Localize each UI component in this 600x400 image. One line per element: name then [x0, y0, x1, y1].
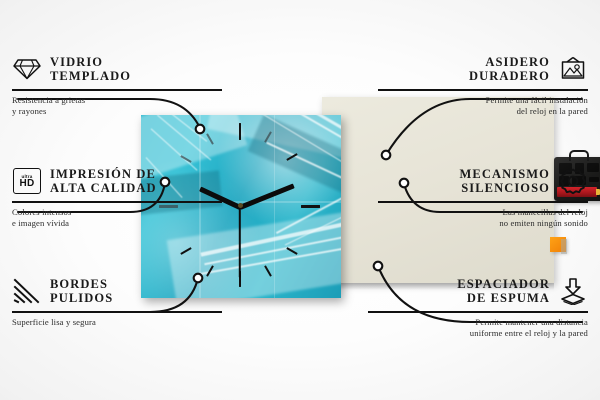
feature-subtitle-line1: Superficie lisa y segura — [12, 317, 222, 328]
feature-title-line1: IMPRESIÓN DE — [50, 167, 157, 181]
foam-spacer-icon — [558, 276, 588, 306]
feature-subtitle-line1: Colores intensos — [12, 207, 222, 218]
feature-subtitle-line2: del reloj en la pared — [378, 106, 588, 117]
connector-dot-asidero — [382, 151, 391, 160]
feature-subtitle-line2: uniforme entre el reloj y la pared — [368, 328, 588, 339]
ultra-hd-badge-icon: ultra HD — [12, 166, 42, 196]
divider — [378, 201, 588, 203]
hanging-frame-icon — [558, 54, 588, 84]
hd-badge-large-text: HD — [19, 179, 34, 189]
feature-title-line2: SILENCIOSO — [378, 181, 550, 195]
feature-subtitle-line1: Resistencia a grietas — [12, 95, 222, 106]
feature-title-line2: TEMPLADO — [50, 69, 131, 83]
feature-title-line2: DE ESPUMA — [368, 291, 550, 305]
feature-subtitle-line1: Permite una fácil instalación — [378, 95, 588, 106]
feature-title-line1: VIDRIO — [50, 55, 131, 69]
diamond-icon — [12, 54, 42, 84]
polished-edges-icon — [12, 276, 42, 306]
connector-dot-vidrio — [196, 125, 205, 134]
feature-subtitle-line2: e imagen vívida — [12, 218, 222, 229]
feature-title-line1: ESPACIADOR — [368, 277, 550, 291]
divider — [12, 311, 222, 313]
feature-title-line1: BORDES — [50, 277, 113, 291]
feature-subtitle-line1: Las manecillas del reloj — [378, 207, 588, 218]
divider — [368, 311, 588, 313]
feature-mecanismo-silencioso: MECANISMO SILENCIOSO Las manecillas del … — [378, 162, 588, 229]
feature-impresion-alta-calidad: ultra HD IMPRESIÓN DE ALTA CALIDAD Color… — [12, 162, 222, 229]
divider — [12, 201, 222, 203]
infographic-canvas: VIDRIO TEMPLADO Resistencia a grietas y … — [0, 0, 600, 400]
feature-bordes-pulidos: BORDES PULIDOS Superficie lisa y segura — [12, 272, 222, 328]
feature-title-line2: ALTA CALIDAD — [50, 181, 157, 195]
feature-subtitle-line1: Permite mantener una distancia — [368, 317, 588, 328]
feature-vidrio-templado: VIDRIO TEMPLADO Resistencia a grietas y … — [12, 50, 222, 117]
feature-title-line1: MECANISMO — [378, 167, 550, 181]
feature-subtitle-line2: y rayones — [12, 106, 222, 117]
divider — [378, 89, 588, 91]
gear-icon — [558, 166, 588, 196]
feature-title-line2: PULIDOS — [50, 291, 113, 305]
feature-subtitle-line2: no emiten ningún sonido — [378, 218, 588, 229]
feature-title-line1: ASIDERO — [378, 55, 550, 69]
feature-espaciador-de-espuma: ESPACIADOR DE ESPUMA Permite mantener un… — [368, 272, 588, 339]
divider — [12, 89, 222, 91]
feature-asidero-duradero: ASIDERO DURADERO Permite una fácil insta… — [378, 50, 588, 117]
feature-title-line2: DURADERO — [378, 69, 550, 83]
connector-dot-espaciador — [374, 262, 383, 271]
